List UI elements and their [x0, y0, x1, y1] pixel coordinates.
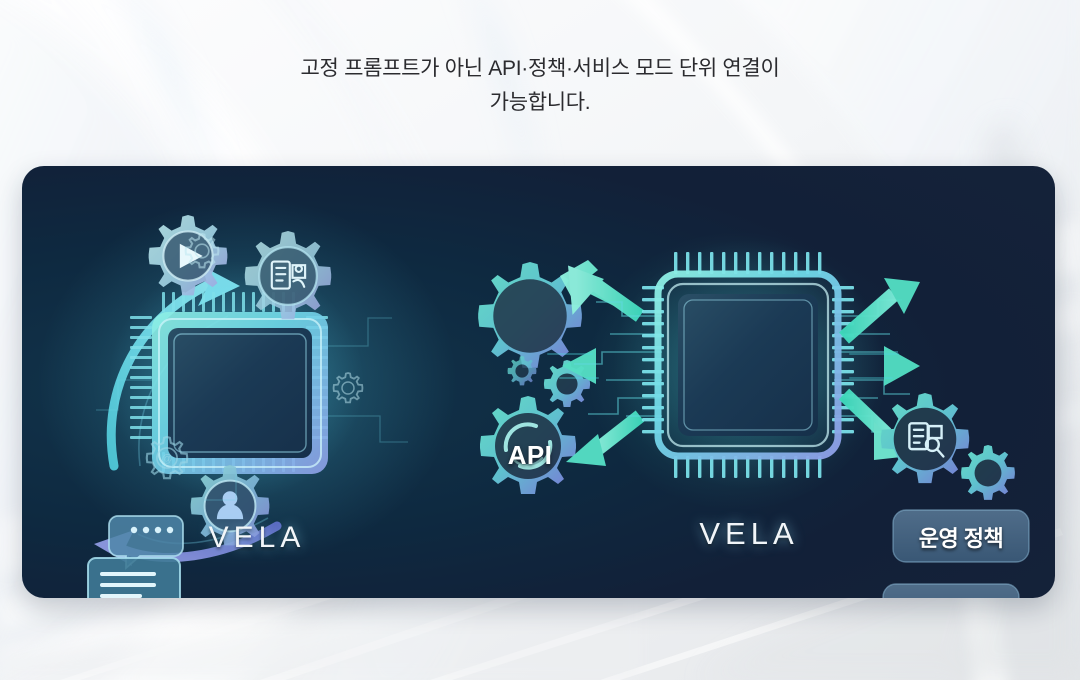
- heading-line-1: 고정 프롬프트가 아닌 API·정책·서비스 모드 단위 연결이: [301, 57, 780, 80]
- gear-document-search-icon: [881, 393, 969, 483]
- vela-diagram-card: @: [22, 166, 1055, 598]
- left-vela-chip: [108, 261, 364, 501]
- core-chip-label: VELA: [677, 516, 821, 552]
- gear-small-right: [961, 445, 1015, 500]
- page-heading: 고정 프롬프트가 아닌 API·정책·서비스 모드 단위 연결이 가능합니다.: [0, 52, 1080, 120]
- api-gear-label: API: [488, 440, 572, 471]
- document-list-icon: [88, 558, 180, 598]
- left-chip-label: VELA: [187, 521, 327, 555]
- svg-text:@: @: [161, 453, 172, 465]
- chip-operation-policy[interactable]: 운영 정책: [897, 514, 1025, 560]
- heading-line-2: 가능합니다.: [0, 86, 1080, 120]
- chip-service-app[interactable]: 서비스 앱: [887, 588, 1015, 598]
